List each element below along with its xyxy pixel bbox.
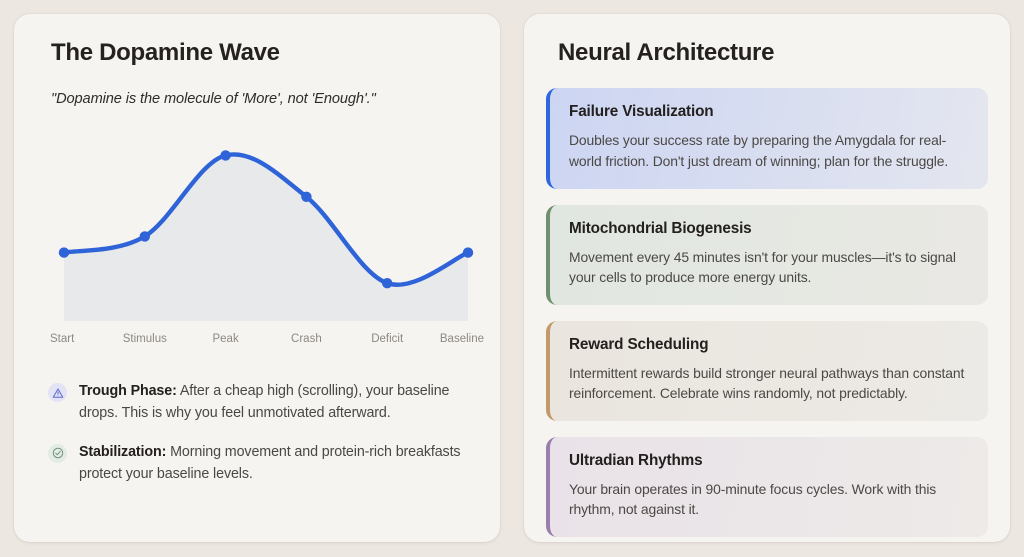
page-title: The Dopamine Wave [51,40,472,66]
note-label: Trough Phase: [79,383,177,399]
note-trough-phase: Trough Phase: After a cheap high (scroll… [48,381,472,424]
chart-svg [46,129,486,329]
neural-architecture-panel: Neural Architecture Failure Visualizatio… [524,14,1010,542]
card-body: Your brain operates in 90-minute focus c… [569,479,969,520]
card-mitochondrial-biogenesis[interactable]: Mitochondrial BiogenesisMovement every 4… [546,205,988,305]
x-axis-label-crash: Crash [291,333,322,345]
chart-point-crash[interactable] [301,192,311,202]
chart-x-axis-labels: StartStimulusPeakCrashDeficitBaseline [46,333,486,351]
card-body: Intermittent rewards build stronger neur… [569,363,969,404]
chart-point-stimulus[interactable] [140,232,150,242]
section-title: Neural Architecture [558,40,988,66]
x-axis-label-deficit: Deficit [371,333,403,345]
chart-area-fill [64,155,468,322]
quote-text: "Dopamine is the molecule of 'More', not… [51,91,472,107]
card-title: Ultradian Rhythms [569,452,969,470]
card-ultradian-rhythms[interactable]: Ultradian RhythmsYour brain operates in … [546,437,988,537]
dopamine-wave-panel: The Dopamine Wave "Dopamine is the molec… [14,14,500,542]
chart-point-peak[interactable] [220,151,230,161]
note-label: Stabilization: [79,444,166,460]
x-axis-label-stimulus: Stimulus [123,333,167,345]
x-axis-label-baseline: Baseline [440,333,484,345]
notes-list: Trough Phase: After a cheap high (scroll… [48,381,472,485]
card-body: Movement every 45 minutes isn't for your… [569,247,969,288]
dopamine-wave-chart [46,129,486,329]
card-title: Reward Scheduling [569,336,969,354]
note-text: Trough Phase: After a cheap high (scroll… [79,381,472,424]
chart-point-deficit[interactable] [382,278,392,288]
card-body: Doubles your success rate by preparing t… [569,130,969,171]
check-circle-icon [48,444,67,463]
warning-triangle-icon [48,383,67,402]
card-reward-scheduling[interactable]: Reward SchedulingIntermittent rewards bu… [546,321,988,421]
card-title: Failure Visualization [569,103,969,121]
chart-point-start[interactable] [59,248,69,258]
card-title: Mitochondrial Biogenesis [569,220,969,238]
note-stabilization: Stabilization: Morning movement and prot… [48,442,472,485]
x-axis-label-peak: Peak [212,333,238,345]
chart-point-baseline[interactable] [463,248,473,258]
page-root: The Dopamine Wave "Dopamine is the molec… [0,0,1024,557]
card-failure-visualization[interactable]: Failure VisualizationDoubles your succes… [546,88,988,188]
note-text: Stabilization: Morning movement and prot… [79,442,472,485]
x-axis-label-start: Start [50,333,74,345]
neural-architecture-card-list: Failure VisualizationDoubles your succes… [546,88,988,537]
